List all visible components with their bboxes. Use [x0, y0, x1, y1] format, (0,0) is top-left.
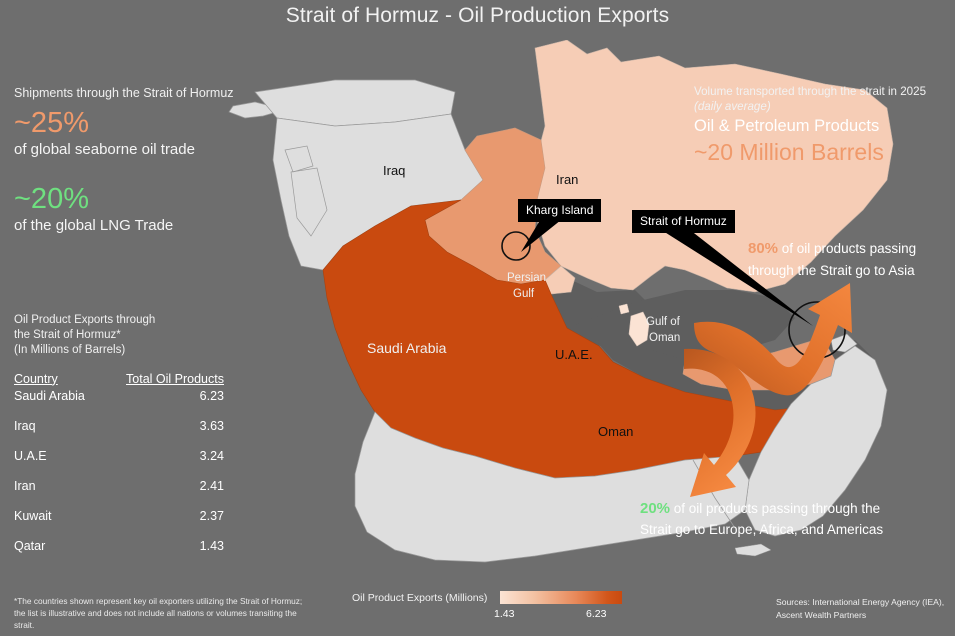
cell-value: 3.63	[100, 411, 246, 441]
column-header-total: Total Oil Products	[100, 372, 246, 388]
column-header-country: Country	[14, 372, 100, 388]
table-header-row: Country Total Oil Products	[14, 372, 246, 388]
callout-west: 20% of oil products passing through the …	[640, 497, 908, 541]
sources-block: Sources: International Energy Agency (IE…	[776, 596, 951, 622]
volume-line3-products: Oil & Petroleum Products	[694, 116, 946, 137]
left-statistics-block: Shipments through the Strait of Hormuz ~…	[14, 86, 264, 236]
table-row: Kuwait 2.37	[14, 501, 246, 531]
map-label-persian-gulf-line2: Gulf	[513, 288, 534, 300]
table-heading-line3: (In Millions of Barrels)	[14, 343, 254, 358]
cell-value: 3.24	[100, 441, 246, 471]
map-label-persian-gulf-line1: Persian	[507, 272, 546, 284]
cell-country: Iraq	[14, 411, 100, 441]
volume-line4-barrels: ~20 Million Barrels	[694, 139, 946, 167]
cell-country: Iran	[14, 471, 100, 501]
map-label-iraq: Iraq	[383, 163, 405, 178]
stat-seaborne-oil-caption: of global seaborne oil trade	[14, 140, 264, 160]
arrow-to-asia	[694, 283, 852, 395]
spacer	[14, 160, 264, 178]
cell-country: Qatar	[14, 531, 100, 561]
table-row: Saudi Arabia 6.23	[14, 388, 246, 411]
map-tag-strait-of-hormuz: Strait of Hormuz	[632, 210, 735, 233]
map-label-iran: Iran	[556, 172, 578, 187]
legend-max-value: 6.23	[586, 608, 606, 620]
infographic-canvas: Strait of Hormuz - Oil Production Export…	[0, 0, 955, 636]
table-row: U.A.E 3.24	[14, 441, 246, 471]
sources-line1: Sources: International Energy Agency (IE…	[776, 596, 951, 609]
legend-min-value: 1.43	[494, 608, 514, 620]
cell-value: 1.43	[100, 531, 246, 561]
callout-asia-percent: 80%	[748, 240, 778, 257]
callout-west-text: of oil products passing through the Stra…	[640, 501, 883, 537]
cell-country: Saudi Arabia	[14, 388, 100, 411]
volume-line1: Volume transported through the strait in…	[694, 84, 946, 99]
map-label-gulf-of-oman-line2: Oman	[649, 332, 680, 344]
table-heading-line1: Oil Product Exports through	[14, 313, 254, 328]
oil-exports-table: Country Total Oil Products Saudi Arabia …	[14, 372, 246, 561]
map-label-saudi-arabia: Saudi Arabia	[367, 340, 446, 356]
table-heading-line2: the Strait of Hormuz*	[14, 328, 254, 343]
legend-title: Oil Product Exports (Millions)	[352, 592, 487, 604]
map-label-uae: U.A.E.	[555, 347, 593, 362]
exports-table-block: Oil Product Exports through the Strait o…	[14, 313, 254, 561]
table-footnote: *The countries shown represent key oil e…	[14, 595, 314, 631]
cell-country: U.A.E	[14, 441, 100, 471]
cell-value: 2.41	[100, 471, 246, 501]
stat-lng-value: ~20%	[14, 183, 264, 215]
map-label-gulf-of-oman-line1: Gulf of	[646, 316, 680, 328]
callout-west-percent: 20%	[640, 500, 670, 517]
cell-value: 2.37	[100, 501, 246, 531]
sources-line2: Ascent Wealth Partners	[776, 609, 951, 622]
table-heading: Oil Product Exports through the Strait o…	[14, 313, 254, 358]
stat-seaborne-oil-value: ~25%	[14, 107, 264, 139]
callout-asia: 80% of oil products passing through the …	[748, 238, 955, 281]
cell-value: 6.23	[100, 388, 246, 411]
table-row: Qatar 1.43	[14, 531, 246, 561]
page-title: Strait of Hormuz - Oil Production Export…	[0, 4, 955, 28]
country-bahrain	[619, 304, 629, 314]
map-legend: Oil Product Exports (Millions) 1.43 6.23	[348, 586, 668, 630]
cell-country: Kuwait	[14, 501, 100, 531]
flow-arrows	[680, 275, 870, 505]
table-row: Iran 2.41	[14, 471, 246, 501]
map-tag-kharg-island: Kharg Island	[518, 199, 601, 222]
shipments-lead-text: Shipments through the Strait of Hormuz	[14, 86, 264, 102]
table-row: Iraq 3.63	[14, 411, 246, 441]
map-label-oman: Oman	[598, 424, 633, 439]
legend-gradient-bar	[500, 591, 622, 604]
island-socotra	[735, 544, 771, 556]
volume-line2-daily-average: (daily average)	[694, 99, 946, 114]
right-statistics-block: Volume transported through the strait in…	[694, 84, 946, 166]
stat-lng-caption: of the global LNG Trade	[14, 216, 264, 236]
